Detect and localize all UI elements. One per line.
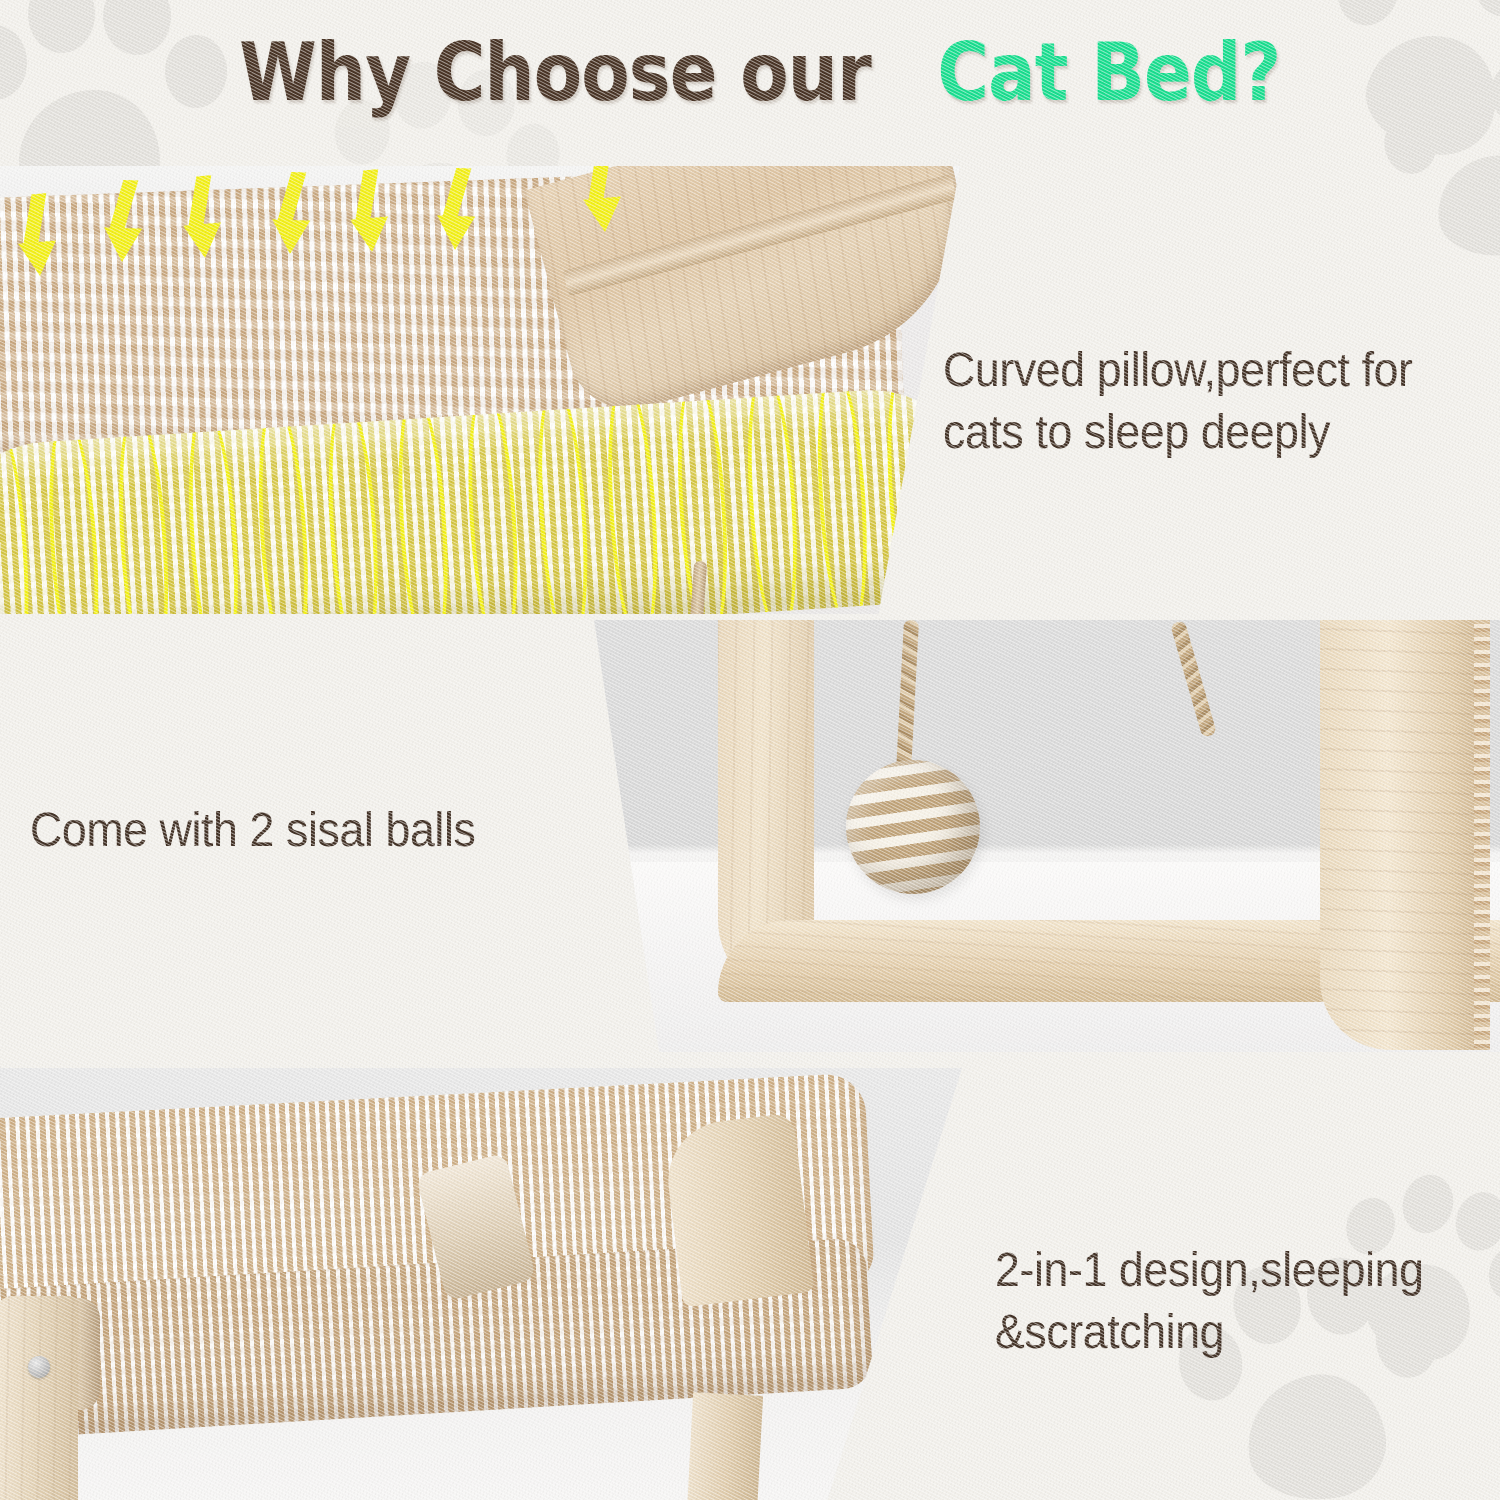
contour-line [112, 409, 175, 614]
contour-line [252, 400, 315, 614]
title-text-primary: Why Choose our [239, 26, 871, 119]
feature-caption-curved-pillow: Curved pillow,perfect for cats to sleep … [943, 340, 1464, 465]
page-title: Why Choose our Cat Bed? [0, 26, 1500, 119]
feature-photo-sisal-balls [528, 620, 1500, 1052]
wooden-leg-right [687, 1392, 763, 1500]
contour-line [811, 384, 874, 614]
wooden-leg-right [1320, 620, 1490, 1050]
contour-line [601, 384, 664, 614]
wooden-leg-left [0, 1296, 78, 1500]
contour-line [741, 384, 804, 614]
screw-icon [28, 1356, 50, 1378]
contour-line [462, 387, 525, 614]
title-text-accent: Cat Bed? [937, 26, 1280, 119]
wooden-frame-right [662, 1113, 815, 1308]
contour-line [182, 405, 245, 614]
sisal-ball [846, 760, 980, 894]
feature-caption-sisal-balls: Come with 2 sisal balls [30, 800, 514, 862]
contour-line [42, 413, 105, 614]
infographic-page: Why Choose our Cat Bed? Curved [0, 0, 1500, 1500]
feature-photo-2-in-1-design [0, 1068, 962, 1500]
contour-line [392, 391, 455, 614]
contour-line [322, 396, 385, 614]
feature-photo-curved-pillow [0, 166, 960, 614]
contour-line [0, 418, 35, 614]
plywood-edge [1474, 620, 1490, 1050]
feature-caption-2-in-1-design: 2-in-1 design,sleeping &scratching [995, 1240, 1479, 1365]
contour-line [531, 384, 594, 614]
contour-line [881, 384, 944, 614]
